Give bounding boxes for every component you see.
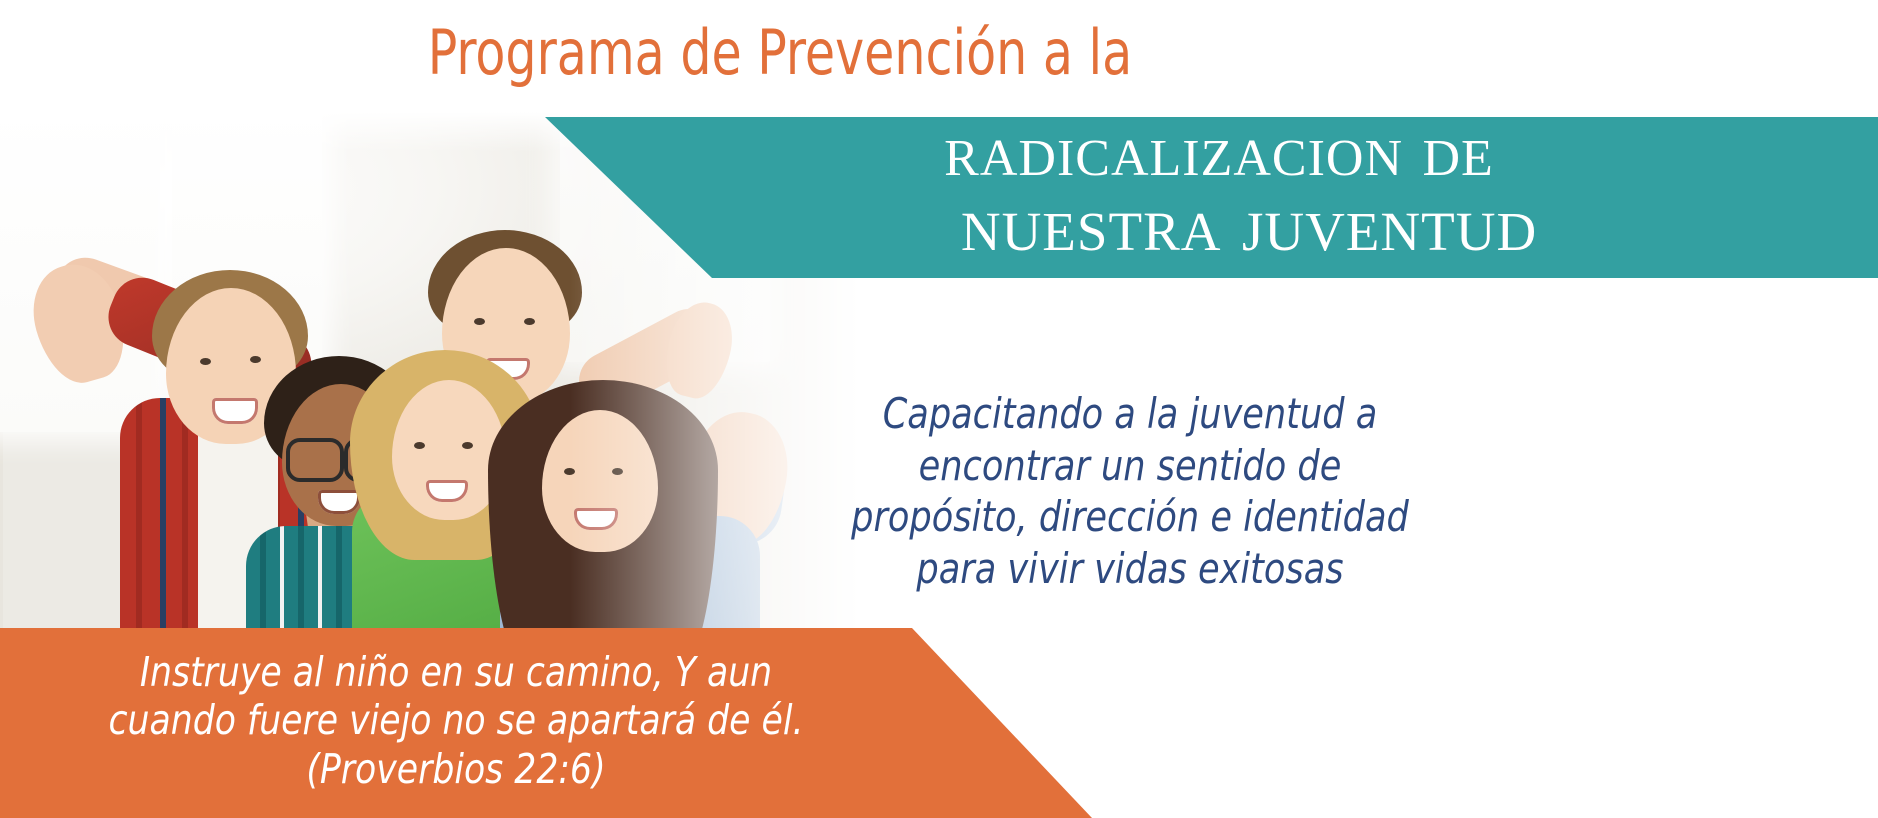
scripture-line-2: cuando fuere viejo no se apartará de él. xyxy=(27,696,884,744)
tagline-block: Capacitando a la juventud a encontrar un… xyxy=(823,388,1437,595)
tagline-line-2: encontrar un sentido de xyxy=(823,440,1437,492)
promotional-banner: Radicalizacion de nuestra Juventud Progr… xyxy=(0,0,1878,818)
scripture-line-1: Instruye al niño en su camino, Y aun xyxy=(27,648,884,696)
scripture-text: Instruye al niño en su camino, Y aun cua… xyxy=(27,648,884,793)
tagline-line-3: propósito, dirección e identidad xyxy=(823,491,1437,543)
page-title: Programa de Prevención a la xyxy=(94,16,1467,89)
scripture-line-3: (Proverbios 22:6) xyxy=(27,745,884,793)
tagline-line-4: para vivir vidas exitosas xyxy=(823,543,1437,595)
tagline-line-1: Capacitando a la juventud a xyxy=(823,388,1437,440)
